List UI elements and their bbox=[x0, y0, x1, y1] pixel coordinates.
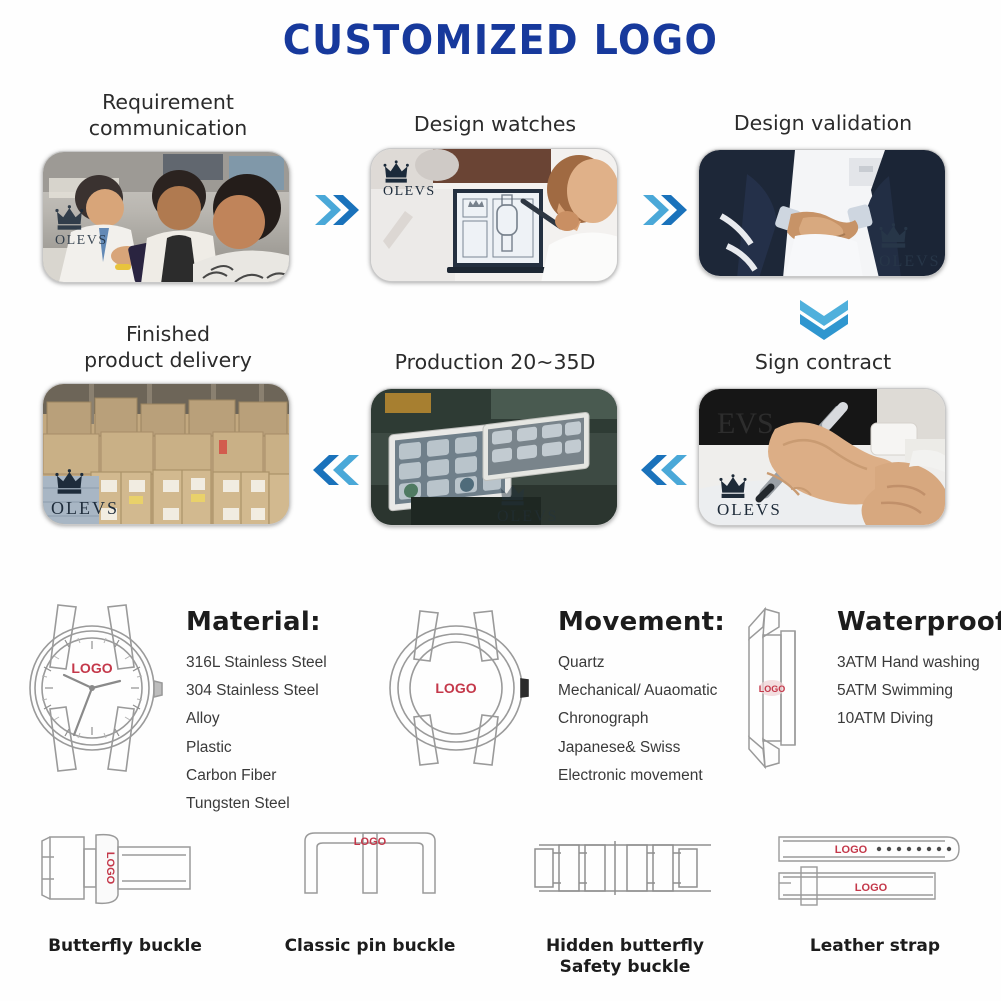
chevron-double-left-icon bbox=[641, 453, 687, 487]
logo-placeholder-text: LOGO bbox=[354, 836, 387, 848]
spec-item: Chronograph bbox=[558, 705, 725, 733]
flow-step-label: Design validation bbox=[698, 111, 948, 137]
flow-step-sign-contract: Sign contract EVS bbox=[698, 350, 948, 526]
chevron-double-down-icon bbox=[798, 298, 850, 340]
watch-case-back-icon: LOGO bbox=[380, 593, 540, 788]
flow-arrow-left-2 bbox=[313, 453, 359, 492]
spec-heading: Material: bbox=[186, 607, 327, 637]
spec-item: Plastic bbox=[186, 734, 327, 762]
flow-step-requirement-communication: Requirement communication bbox=[42, 90, 294, 283]
svg-text:EVS: EVS bbox=[717, 407, 774, 440]
buckles-section: LOGO Butterfly buckle LOGO Classic pin b… bbox=[0, 812, 1001, 1001]
flow-step-photo-production: OLEVS bbox=[370, 388, 618, 526]
logo-placeholder-text: LOGO bbox=[71, 660, 112, 676]
spec-item: Carbon Fiber bbox=[186, 762, 327, 790]
spec-item: Alloy bbox=[186, 705, 327, 733]
flow-step-label: Finished product delivery bbox=[42, 322, 294, 373]
flow-arrow-right-2 bbox=[641, 193, 687, 232]
spec-material: LOGO Material: 316L Stainless Steel 304 … bbox=[8, 593, 327, 818]
buckle-label: Butterfly buckle bbox=[10, 936, 240, 957]
flow-step-photo-delivery: OLEVS bbox=[42, 383, 290, 525]
spec-heading: Movement: bbox=[558, 607, 725, 637]
spec-item: Electronic movement bbox=[558, 762, 725, 790]
spec-item: 3ATM Hand washing bbox=[837, 649, 1001, 677]
buckle-butterfly: LOGO Butterfly buckle bbox=[10, 820, 240, 957]
spec-movement: LOGO Movement: Quartz Mechanical/ Auaoma… bbox=[380, 593, 725, 790]
flow-arrow-left-1 bbox=[641, 453, 687, 492]
spec-item: 10ATM Diving bbox=[837, 705, 1001, 733]
watch-side-profile-icon: LOGO bbox=[735, 593, 821, 788]
spec-waterproof: LOGO Waterproof: 3ATM Hand washing 5ATM … bbox=[735, 593, 1001, 788]
svg-text:OLEVS: OLEVS bbox=[51, 498, 119, 518]
photo-requirement-communication: OLEVS bbox=[43, 152, 290, 283]
hidden-butterfly-buckle-icon bbox=[500, 820, 750, 916]
photo-finished-product-delivery: OLEVS bbox=[43, 384, 290, 525]
buckle-hidden-butterfly: Hidden butterfly Safety buckle bbox=[500, 820, 750, 979]
flow-step-photo-requirement: OLEVS bbox=[42, 151, 290, 283]
photo-design-validation: OLEVS bbox=[699, 150, 946, 277]
logo-placeholder-text: LOGO bbox=[104, 852, 116, 885]
specs-section: LOGO Material: 316L Stainless Steel 304 … bbox=[0, 575, 1001, 800]
pin-buckle-icon: LOGO bbox=[250, 820, 490, 916]
front-watch-icon: LOGO bbox=[8, 593, 176, 788]
flow-step-label: Production 20~35D bbox=[370, 350, 620, 376]
svg-text:OLEVS: OLEVS bbox=[879, 253, 941, 270]
photo-sign-contract: EVS bbox=[699, 389, 946, 526]
flow-step-photo-design-watches: OLEVS bbox=[370, 148, 618, 282]
svg-text:OLEVS: OLEVS bbox=[497, 508, 559, 525]
logo-placeholder-text: LOGO bbox=[435, 680, 476, 696]
chevron-double-right-icon bbox=[641, 193, 687, 227]
logo-placeholder-text: LOGO bbox=[835, 844, 868, 856]
buckle-label: Leather strap bbox=[760, 936, 990, 957]
spec-item: 316L Stainless Steel bbox=[186, 649, 327, 677]
leather-strap-icon: LOGO LOGO bbox=[760, 820, 990, 916]
svg-text:OLEVS: OLEVS bbox=[55, 233, 108, 248]
flow-step-label: Design watches bbox=[370, 112, 620, 138]
page-title: CUSTOMIZED LOGO bbox=[35, 16, 966, 64]
spec-item: Japanese& Swiss bbox=[558, 734, 725, 762]
chevron-double-right-icon bbox=[313, 193, 359, 227]
buckle-classic-pin: LOGO Classic pin buckle bbox=[250, 820, 490, 957]
flow-arrow-right-1 bbox=[313, 193, 359, 232]
flow-step-design-watches: Design watches bbox=[370, 112, 620, 282]
chevron-double-left-icon bbox=[313, 453, 359, 487]
butterfly-buckle-icon: LOGO bbox=[10, 820, 240, 916]
buckle-label: Hidden butterfly Safety buckle bbox=[500, 936, 750, 979]
process-flow: Requirement communication bbox=[0, 78, 1001, 568]
photo-production: OLEVS bbox=[371, 389, 618, 526]
logo-placeholder-text: LOGO bbox=[759, 684, 786, 694]
flow-step-photo-sign-contract: EVS bbox=[698, 388, 946, 526]
flow-step-photo-design-validation: OLEVS bbox=[698, 149, 946, 277]
flow-step-design-validation: Design validation bbox=[698, 111, 948, 277]
spec-item: 304 Stainless Steel bbox=[186, 677, 327, 705]
svg-text:OLEVS: OLEVS bbox=[717, 500, 782, 519]
photo-design-watches: OLEVS bbox=[371, 149, 618, 282]
svg-text:OLEVS: OLEVS bbox=[383, 184, 436, 199]
spec-item: Mechanical/ Auaomatic bbox=[558, 677, 725, 705]
spec-item: Quartz bbox=[558, 649, 725, 677]
flow-step-production: Production 20~35D bbox=[370, 350, 620, 526]
flow-step-finished-product-delivery: Finished product delivery bbox=[42, 322, 294, 525]
buckle-leather-strap: LOGO LOGO Leather strap bbox=[760, 820, 990, 957]
customized-logo-infographic: CUSTOMIZED LOGO Requirement communicatio… bbox=[0, 0, 1001, 1001]
logo-placeholder-text: LOGO bbox=[855, 882, 888, 894]
spec-heading: Waterproof: bbox=[837, 607, 1001, 637]
spec-item: 5ATM Swimming bbox=[837, 677, 1001, 705]
flow-step-label: Requirement communication bbox=[42, 90, 294, 141]
buckle-label: Classic pin buckle bbox=[250, 936, 490, 957]
flow-arrow-down bbox=[798, 298, 850, 345]
flow-step-label: Sign contract bbox=[698, 350, 948, 376]
